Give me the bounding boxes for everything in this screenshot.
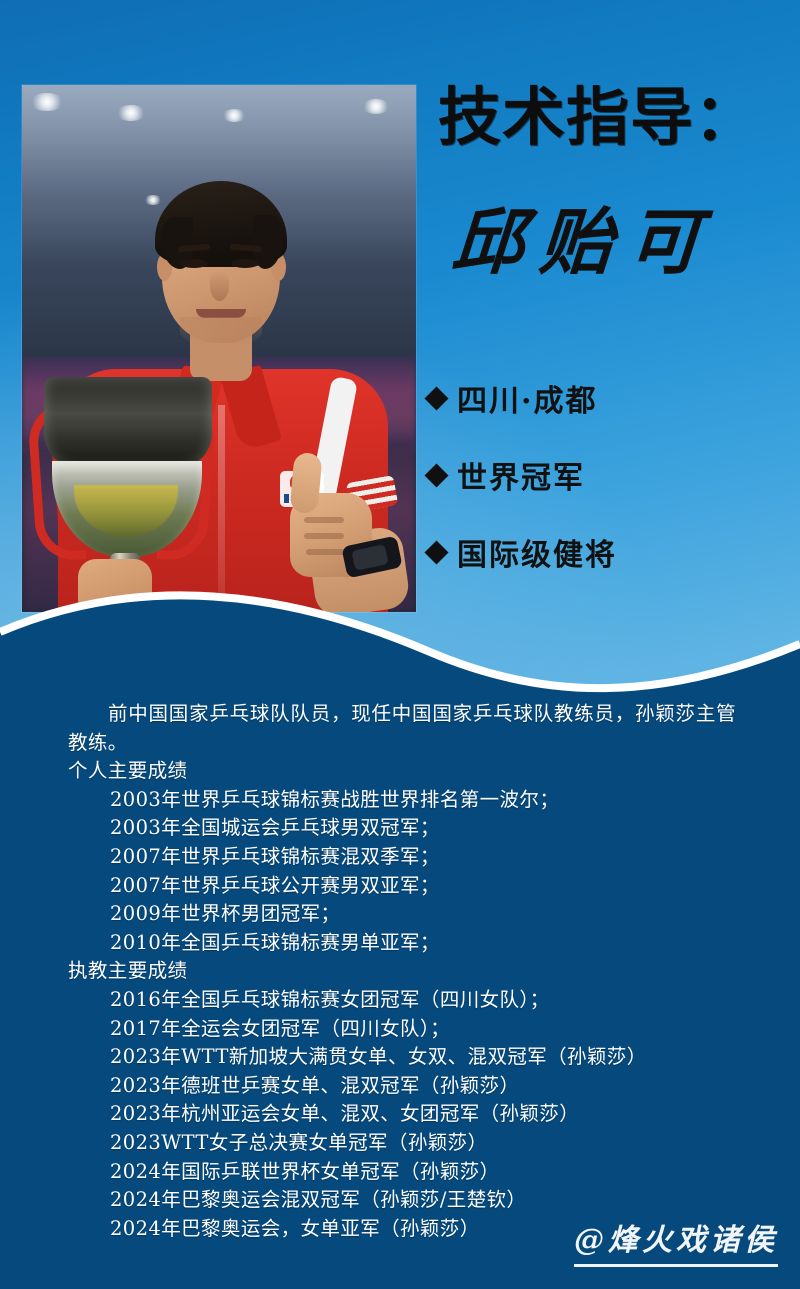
portrait-eye-left: [180, 259, 208, 268]
achievement-item: 2007年世界乒乓球锦标赛混双季军；: [0, 843, 800, 872]
coach-photo: [22, 85, 416, 612]
coach-name: 邱贻可: [449, 206, 718, 278]
stadium-light-icon: [222, 109, 246, 122]
achievement-item: 2009年世界杯男团冠军；: [0, 900, 800, 929]
achievement-item: 2023年杭州亚运会女单、混双、女团冠军（孙颖莎）: [0, 1100, 800, 1129]
achievement-item: 2024年巴黎奥运会混双冠军（孙颖莎/王楚钦）: [0, 1186, 800, 1215]
jacket-zipper: [218, 405, 225, 610]
stadium-light-icon: [30, 93, 64, 111]
credential-label: 四川·成都: [457, 376, 597, 420]
credential-item-location: 四川·成都: [428, 376, 778, 420]
diamond-bullet-icon: [424, 463, 448, 487]
stadium-light-icon: [116, 105, 146, 121]
portrait-eye-right: [231, 259, 259, 268]
credential-label: 国际级健将: [457, 530, 617, 574]
achievement-item: 2017年全运会女团冠军（四川女队）；: [0, 1015, 800, 1044]
credential-item-rank: 国际级健将: [428, 530, 778, 574]
page-title: 技术指导：: [438, 86, 758, 149]
biography-section: 前中国国家乒乓球队队员，现任中国国家乒乓球队教练员，孙颖莎主管教练。 个人主要成…: [0, 700, 800, 1243]
achievement-item: 2023年德班世乒赛女单、混双冠军（孙颖莎）: [0, 1072, 800, 1101]
credential-item-title: 世界冠军: [428, 453, 778, 497]
trophy-engraved-rim: [44, 377, 212, 469]
diamond-bullet-icon: [424, 540, 448, 564]
portrait-nose: [210, 271, 229, 301]
intro-paragraph: 前中国国家乒乓球队队员，现任中国国家乒乓球队教练员，孙颖莎主管教练。: [0, 700, 800, 757]
portrait-chin: [180, 317, 262, 347]
achievement-item: 2016年全国乒乓球锦标赛女团冠军（四川女队）；: [0, 986, 800, 1015]
header-banner: 技术指导： 邱贻可 四川·成都 世界冠军 国际级健将: [0, 0, 800, 700]
achievement-item: 2023年WTT新加坡大满贯女单、女双、混双冠军（孙颖莎）: [0, 1043, 800, 1072]
knuckle-line: [304, 533, 344, 539]
watermark: @烽火戏诸侯: [574, 1215, 778, 1267]
poster-root: 技术指导： 邱贻可 四川·成都 世界冠军 国际级健将 前中国国家乒乓球队队员，现…: [0, 0, 800, 1289]
achievement-item: 2010年全国乒乓球锦标赛男单亚军；: [0, 929, 800, 958]
achievement-item: 2024年国际乒联世界杯女单冠军（孙颖莎）: [0, 1158, 800, 1187]
stadium-light-icon: [362, 99, 390, 114]
credential-label: 世界冠军: [457, 453, 585, 497]
portrait-hand-holding-trophy: [78, 559, 152, 612]
knuckle-line: [306, 549, 346, 555]
stadium-light-icon: [144, 195, 162, 205]
section-heading-coaching: 执教主要成绩: [0, 957, 800, 986]
section-heading-personal: 个人主要成绩: [0, 757, 800, 786]
achievement-item: 2023WTT女子总决赛女单冠军（孙颖莎）: [0, 1129, 800, 1158]
knuckle-line: [304, 517, 344, 523]
diamond-bullet-icon: [424, 386, 448, 410]
credentials-list: 四川·成都 世界冠军 国际级健将: [428, 376, 778, 607]
achievement-item: 2007年世界乒乓球公开赛男双亚军；: [0, 872, 800, 901]
achievement-item: 2003年全国城运会乒乓球男双冠军；: [0, 814, 800, 843]
achievement-item: 2003年世界乒乓球锦标赛战胜世界排名第一波尔；: [0, 786, 800, 815]
